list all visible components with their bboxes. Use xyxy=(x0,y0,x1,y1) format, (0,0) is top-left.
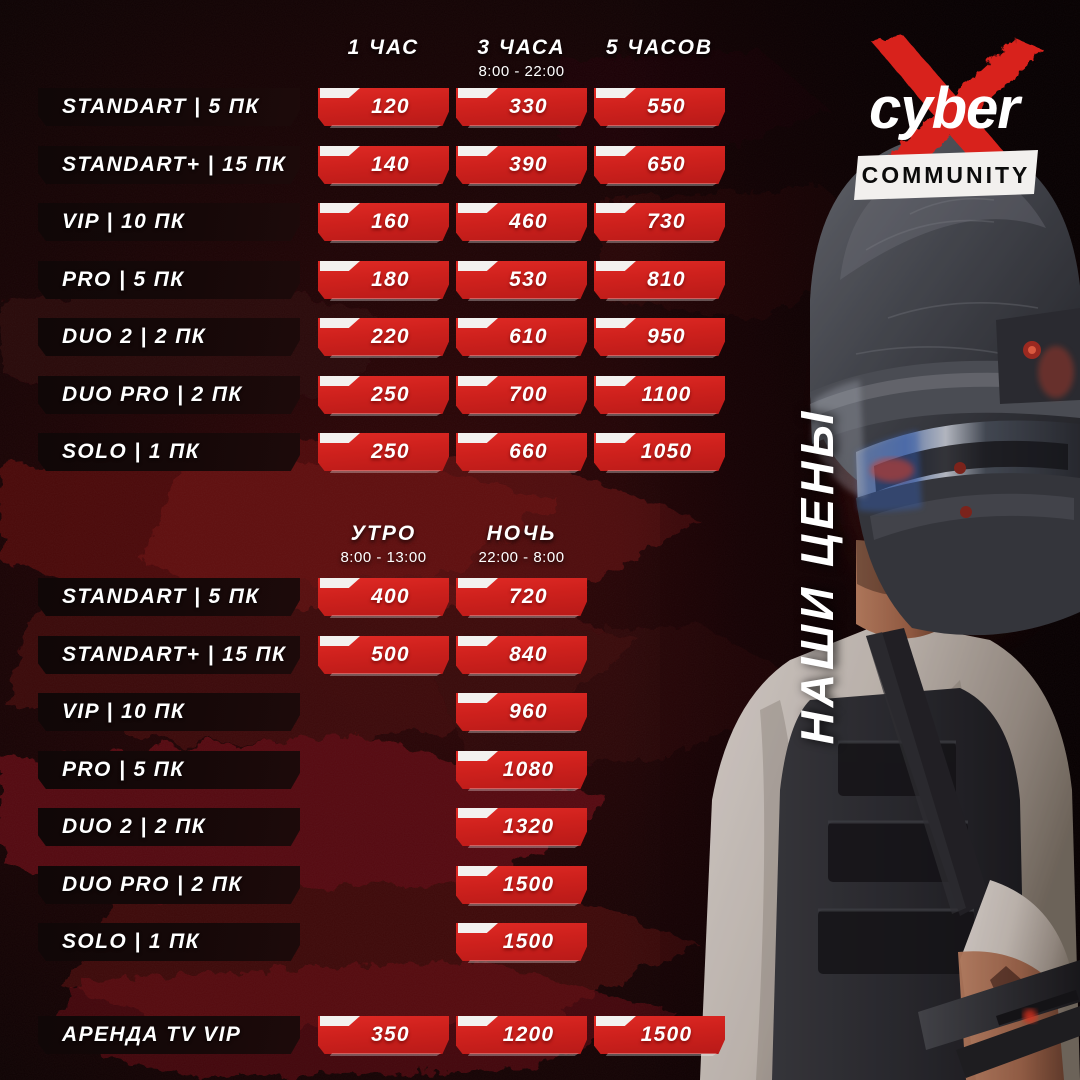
price-chip: 660 xyxy=(456,433,587,471)
price-value: 160 xyxy=(318,203,449,241)
plan-label-text: STANDART | 5 ПК xyxy=(38,585,260,609)
price-value: 1080 xyxy=(456,751,587,789)
plan-label: STANDART | 5 ПК xyxy=(38,88,300,126)
plan-label: STANDART+ | 15 ПК xyxy=(38,636,300,674)
column-header-title: 1 ЧАС xyxy=(318,36,449,60)
price-value: 1500 xyxy=(456,866,587,904)
price-chip: 550 xyxy=(594,88,725,126)
price-chip: 400 xyxy=(318,578,449,616)
price-chip: 810 xyxy=(594,261,725,299)
price-chip: 160 xyxy=(318,203,449,241)
price-chip: 180 xyxy=(318,261,449,299)
column-header-table_day-1: 3 ЧАСА8:00 - 22:00 xyxy=(456,36,587,80)
price-chip: 390 xyxy=(456,146,587,184)
column-header-subtitle: 22:00 - 8:00 xyxy=(456,549,587,566)
plan-label: VIP | 10 ПК xyxy=(38,203,300,241)
plan-label-text: SOLO | 1 ПК xyxy=(38,930,200,954)
price-value: 220 xyxy=(318,318,449,356)
price-value: 1100 xyxy=(594,376,725,414)
price-value: 610 xyxy=(456,318,587,356)
brand-tagline-banner: COMMUNITY xyxy=(854,150,1038,200)
price-value: 140 xyxy=(318,146,449,184)
price-value: 530 xyxy=(456,261,587,299)
plan-label: VIP | 10 ПК xyxy=(38,693,300,731)
plan-label: DUO PRO | 2 ПК xyxy=(38,866,300,904)
price-value: 700 xyxy=(456,376,587,414)
column-header-title: 5 ЧАСОВ xyxy=(594,36,725,60)
price-chip: 460 xyxy=(456,203,587,241)
price-chip: 1100 xyxy=(594,376,725,414)
plan-label-text: DUO PRO | 2 ПК xyxy=(38,383,243,407)
plan-label-text: VIP | 10 ПК xyxy=(38,700,185,724)
column-header-table_day-0: 1 ЧАС xyxy=(318,36,449,60)
price-chip: 530 xyxy=(456,261,587,299)
plan-label-text: PRO | 5 ПК xyxy=(38,758,185,782)
price-value: 1320 xyxy=(456,808,587,846)
price-chip: 250 xyxy=(318,376,449,414)
price-chip: 730 xyxy=(594,203,725,241)
plan-label-text: STANDART+ | 15 ПК xyxy=(38,153,286,177)
plan-label: SOLO | 1 ПК xyxy=(38,433,300,471)
plan-label: АРЕНДА TV VIP xyxy=(38,1016,300,1054)
price-value: 1500 xyxy=(594,1016,725,1054)
price-chip: 1080 xyxy=(456,751,587,789)
column-header-table_night-1: НОЧЬ22:00 - 8:00 xyxy=(456,522,587,566)
price-value: 720 xyxy=(456,578,587,616)
price-value: 650 xyxy=(594,146,725,184)
plan-label: DUO 2 | 2 ПК xyxy=(38,318,300,356)
price-chip: 1500 xyxy=(594,1016,725,1054)
plan-label: PRO | 5 ПК xyxy=(38,751,300,789)
price-chip: 950 xyxy=(594,318,725,356)
price-chip: 840 xyxy=(456,636,587,674)
price-value: 400 xyxy=(318,578,449,616)
price-value: 250 xyxy=(318,433,449,471)
price-chip: 1500 xyxy=(456,923,587,961)
column-header-title: УТРО xyxy=(318,522,449,546)
price-value: 950 xyxy=(594,318,725,356)
brand-tagline: COMMUNITY xyxy=(862,162,1031,188)
price-chip: 330 xyxy=(456,88,587,126)
price-chip: 720 xyxy=(456,578,587,616)
price-chip: 500 xyxy=(318,636,449,674)
plan-label-text: DUO 2 | 2 ПК xyxy=(38,815,206,839)
price-value: 1200 xyxy=(456,1016,587,1054)
column-header-title: НОЧЬ xyxy=(456,522,587,546)
plan-label: DUO PRO | 2 ПК xyxy=(38,376,300,414)
plan-label: STANDART | 5 ПК xyxy=(38,578,300,616)
plan-label: STANDART+ | 15 ПК xyxy=(38,146,300,184)
price-value: 390 xyxy=(456,146,587,184)
column-header-table_day-2: 5 ЧАСОВ xyxy=(594,36,725,60)
price-value: 810 xyxy=(594,261,725,299)
plan-label-text: SOLO | 1 ПК xyxy=(38,440,200,464)
brand-logo: cyber COMMUNITY xyxy=(838,28,1050,204)
price-value: 660 xyxy=(456,433,587,471)
plan-label: PRO | 5 ПК xyxy=(38,261,300,299)
price-chip: 610 xyxy=(456,318,587,356)
column-header-subtitle: 8:00 - 13:00 xyxy=(318,549,449,566)
price-chip: 1320 xyxy=(456,808,587,846)
plan-label-text: STANDART | 5 ПК xyxy=(38,95,260,119)
page-headline: НАШИ ЦЕНЫ xyxy=(786,371,848,781)
plan-label-text: DUO PRO | 2 ПК xyxy=(38,873,243,897)
plan-label: DUO 2 | 2 ПК xyxy=(38,808,300,846)
price-chip: 250 xyxy=(318,433,449,471)
brand-name: cyber xyxy=(869,76,1023,141)
price-chip: 220 xyxy=(318,318,449,356)
price-value: 1050 xyxy=(594,433,725,471)
plan-label-text: DUO 2 | 2 ПК xyxy=(38,325,206,349)
plan-label-text: STANDART+ | 15 ПК xyxy=(38,643,286,667)
price-value: 250 xyxy=(318,376,449,414)
price-value: 350 xyxy=(318,1016,449,1054)
price-chip: 140 xyxy=(318,146,449,184)
price-chip: 120 xyxy=(318,88,449,126)
price-value: 330 xyxy=(456,88,587,126)
column-header-title: 3 ЧАСА xyxy=(456,36,587,60)
price-value: 1500 xyxy=(456,923,587,961)
price-value: 550 xyxy=(594,88,725,126)
price-chip: 1050 xyxy=(594,433,725,471)
plan-label-text: PRO | 5 ПК xyxy=(38,268,185,292)
column-header-table_night-0: УТРО8:00 - 13:00 xyxy=(318,522,449,566)
plan-label-text: VIP | 10 ПК xyxy=(38,210,185,234)
price-value: 960 xyxy=(456,693,587,731)
price-chip: 1200 xyxy=(456,1016,587,1054)
price-value: 180 xyxy=(318,261,449,299)
plan-label: SOLO | 1 ПК xyxy=(38,923,300,961)
price-value: 460 xyxy=(456,203,587,241)
price-chip: 650 xyxy=(594,146,725,184)
price-chip: 960 xyxy=(456,693,587,731)
price-chip: 350 xyxy=(318,1016,449,1054)
plan-label-text: АРЕНДА TV VIP xyxy=(38,1023,241,1047)
price-chip: 700 xyxy=(456,376,587,414)
column-header-subtitle: 8:00 - 22:00 xyxy=(456,63,587,80)
price-value: 500 xyxy=(318,636,449,674)
price-chip: 1500 xyxy=(456,866,587,904)
price-value: 120 xyxy=(318,88,449,126)
price-value: 840 xyxy=(456,636,587,674)
price-value: 730 xyxy=(594,203,725,241)
